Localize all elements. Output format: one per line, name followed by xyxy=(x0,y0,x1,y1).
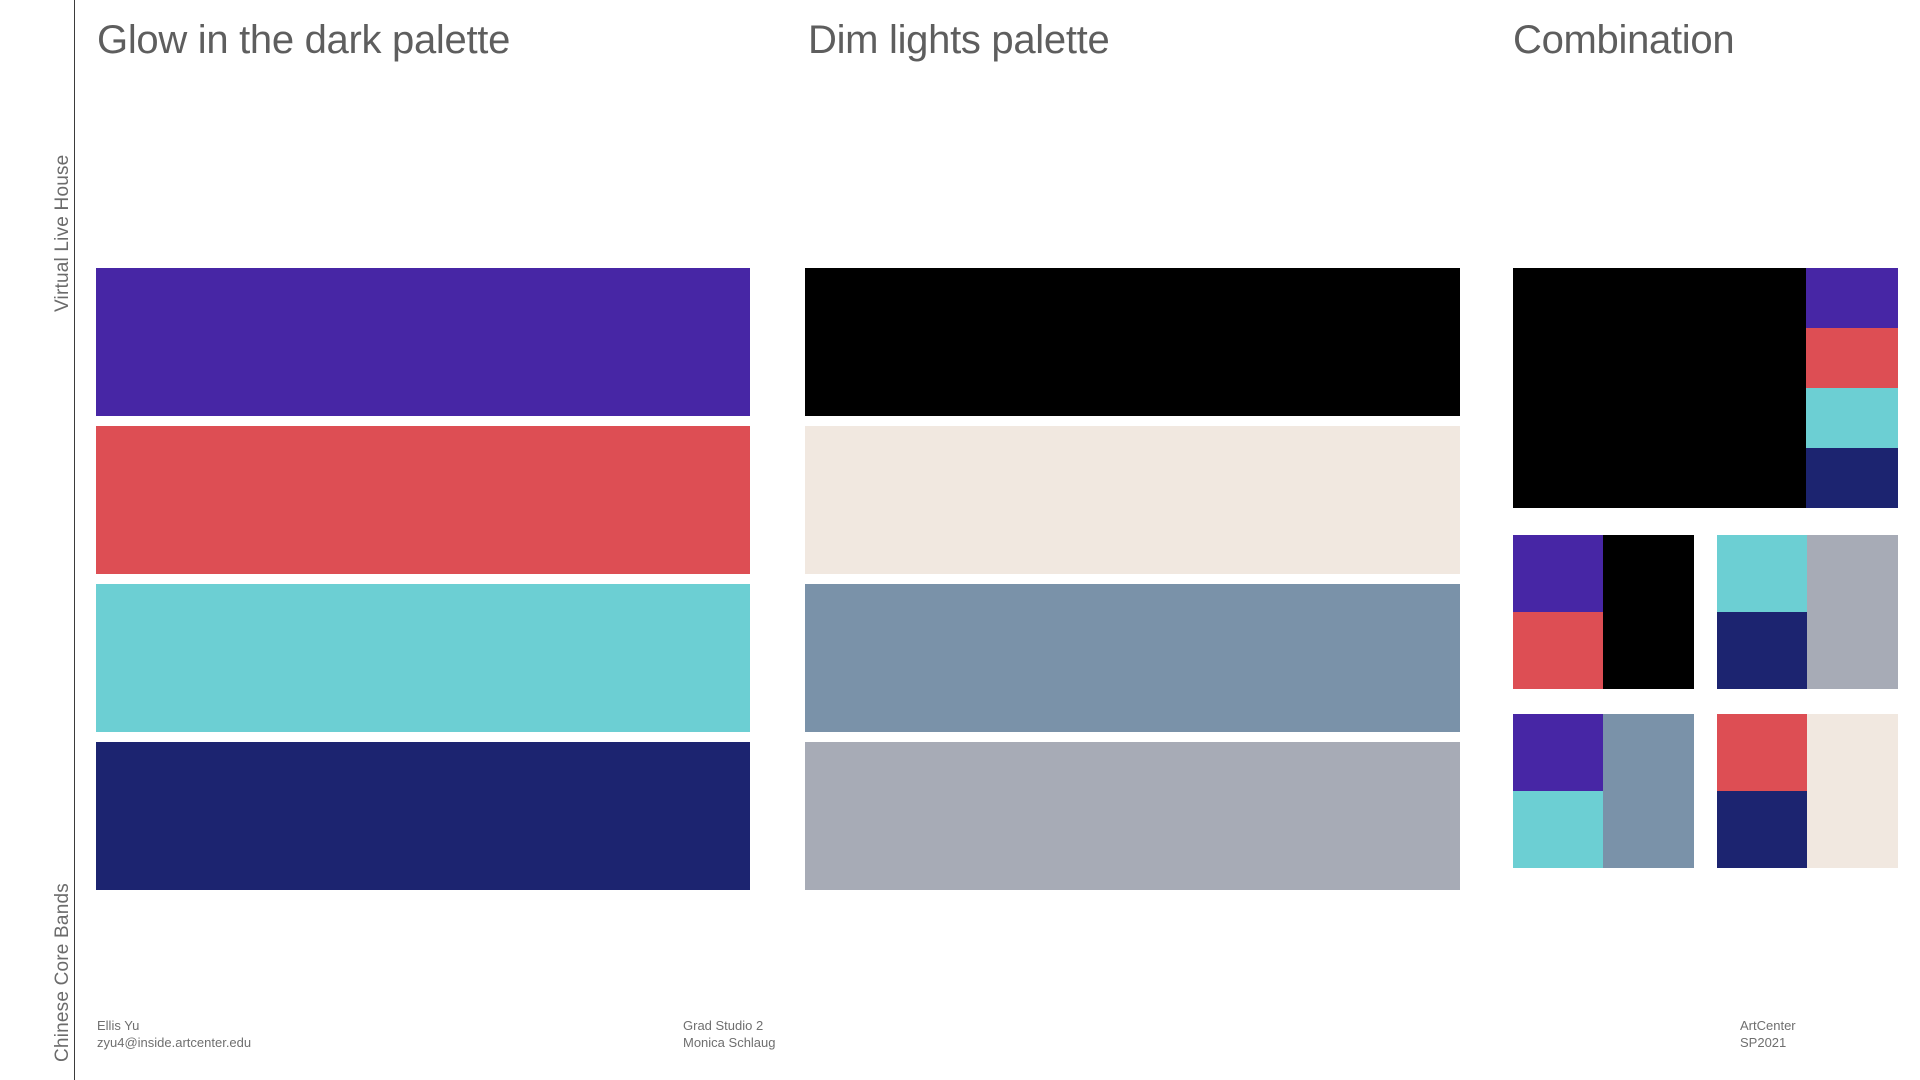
combination-card-violet-aqua-on-slate xyxy=(1513,714,1694,868)
heading-dim-palette: Dim lights palette xyxy=(808,18,1109,63)
card-right-field xyxy=(1603,535,1694,689)
footer-school: ArtCenter SP2021 xyxy=(1740,1017,1796,1052)
rail-label-project: Virtual Live House xyxy=(0,12,74,312)
color-swatch-coral-red xyxy=(96,426,750,574)
card-right-field xyxy=(1603,714,1694,868)
card-swatch-0 xyxy=(1717,714,1807,791)
footer-course: Grad Studio 2 Monica Schlaug xyxy=(683,1017,776,1052)
card-swatch-1 xyxy=(1717,612,1807,689)
hero-strip-swatch-0 xyxy=(1806,268,1898,328)
footer-author: Ellis Yu zyu4@inside.artcenter.edu xyxy=(97,1017,251,1052)
card-left-stack xyxy=(1513,535,1603,689)
footer-course-instructor: Monica Schlaug xyxy=(683,1034,776,1052)
card-swatch-0 xyxy=(1717,535,1807,612)
hero-strip-swatch-2 xyxy=(1806,388,1898,448)
hero-strip-swatch-1 xyxy=(1806,328,1898,388)
card-right-field xyxy=(1807,535,1898,689)
card-swatch-1 xyxy=(1717,791,1807,868)
footer-school-term: SP2021 xyxy=(1740,1034,1796,1052)
footer-author-name: Ellis Yu xyxy=(97,1017,251,1035)
heading-combination: Combination xyxy=(1513,18,1734,63)
left-rail: Virtual Live House Chinese Core Bands xyxy=(0,0,75,1080)
footer-school-name: ArtCenter xyxy=(1740,1017,1796,1035)
card-swatch-1 xyxy=(1513,612,1603,689)
color-swatch-electric-violet xyxy=(96,268,750,416)
color-swatch-slate-blue xyxy=(805,584,1460,732)
combination-grid xyxy=(1513,268,1898,868)
color-swatch-black xyxy=(805,268,1460,416)
color-swatch-cool-gray xyxy=(805,742,1460,890)
combination-card-violet-red-on-black xyxy=(1513,535,1694,689)
color-swatch-warm-cream xyxy=(805,426,1460,574)
card-left-stack xyxy=(1513,714,1603,868)
combination-row-2 xyxy=(1513,714,1898,868)
card-left-stack xyxy=(1717,714,1807,868)
card-swatch-1 xyxy=(1513,791,1603,868)
card-right-field xyxy=(1807,714,1898,868)
combination-card-aqua-navy-on-gray xyxy=(1717,535,1898,689)
rail-label-subject: Chinese Core Bands xyxy=(0,762,74,1062)
heading-glow-palette: Glow in the dark palette xyxy=(97,18,510,63)
hero-accent-strip xyxy=(1806,268,1898,508)
rail-divider xyxy=(74,0,75,1080)
combination-row-1 xyxy=(1513,535,1898,689)
combination-hero-block xyxy=(1513,268,1898,508)
combination-card-red-navy-on-cream xyxy=(1717,714,1898,868)
hero-strip-swatch-3 xyxy=(1806,448,1898,508)
card-left-stack xyxy=(1717,535,1807,689)
hero-main-swatch xyxy=(1513,268,1806,508)
footer-course-name: Grad Studio 2 xyxy=(683,1017,776,1035)
palette-glow-in-the-dark xyxy=(96,268,750,890)
card-swatch-0 xyxy=(1513,535,1603,612)
card-swatch-0 xyxy=(1513,714,1603,791)
color-swatch-deep-navy xyxy=(96,742,750,890)
color-swatch-aqua-turquoise xyxy=(96,584,750,732)
palette-dim-lights xyxy=(805,268,1460,890)
footer-author-email: zyu4@inside.artcenter.edu xyxy=(97,1034,251,1052)
